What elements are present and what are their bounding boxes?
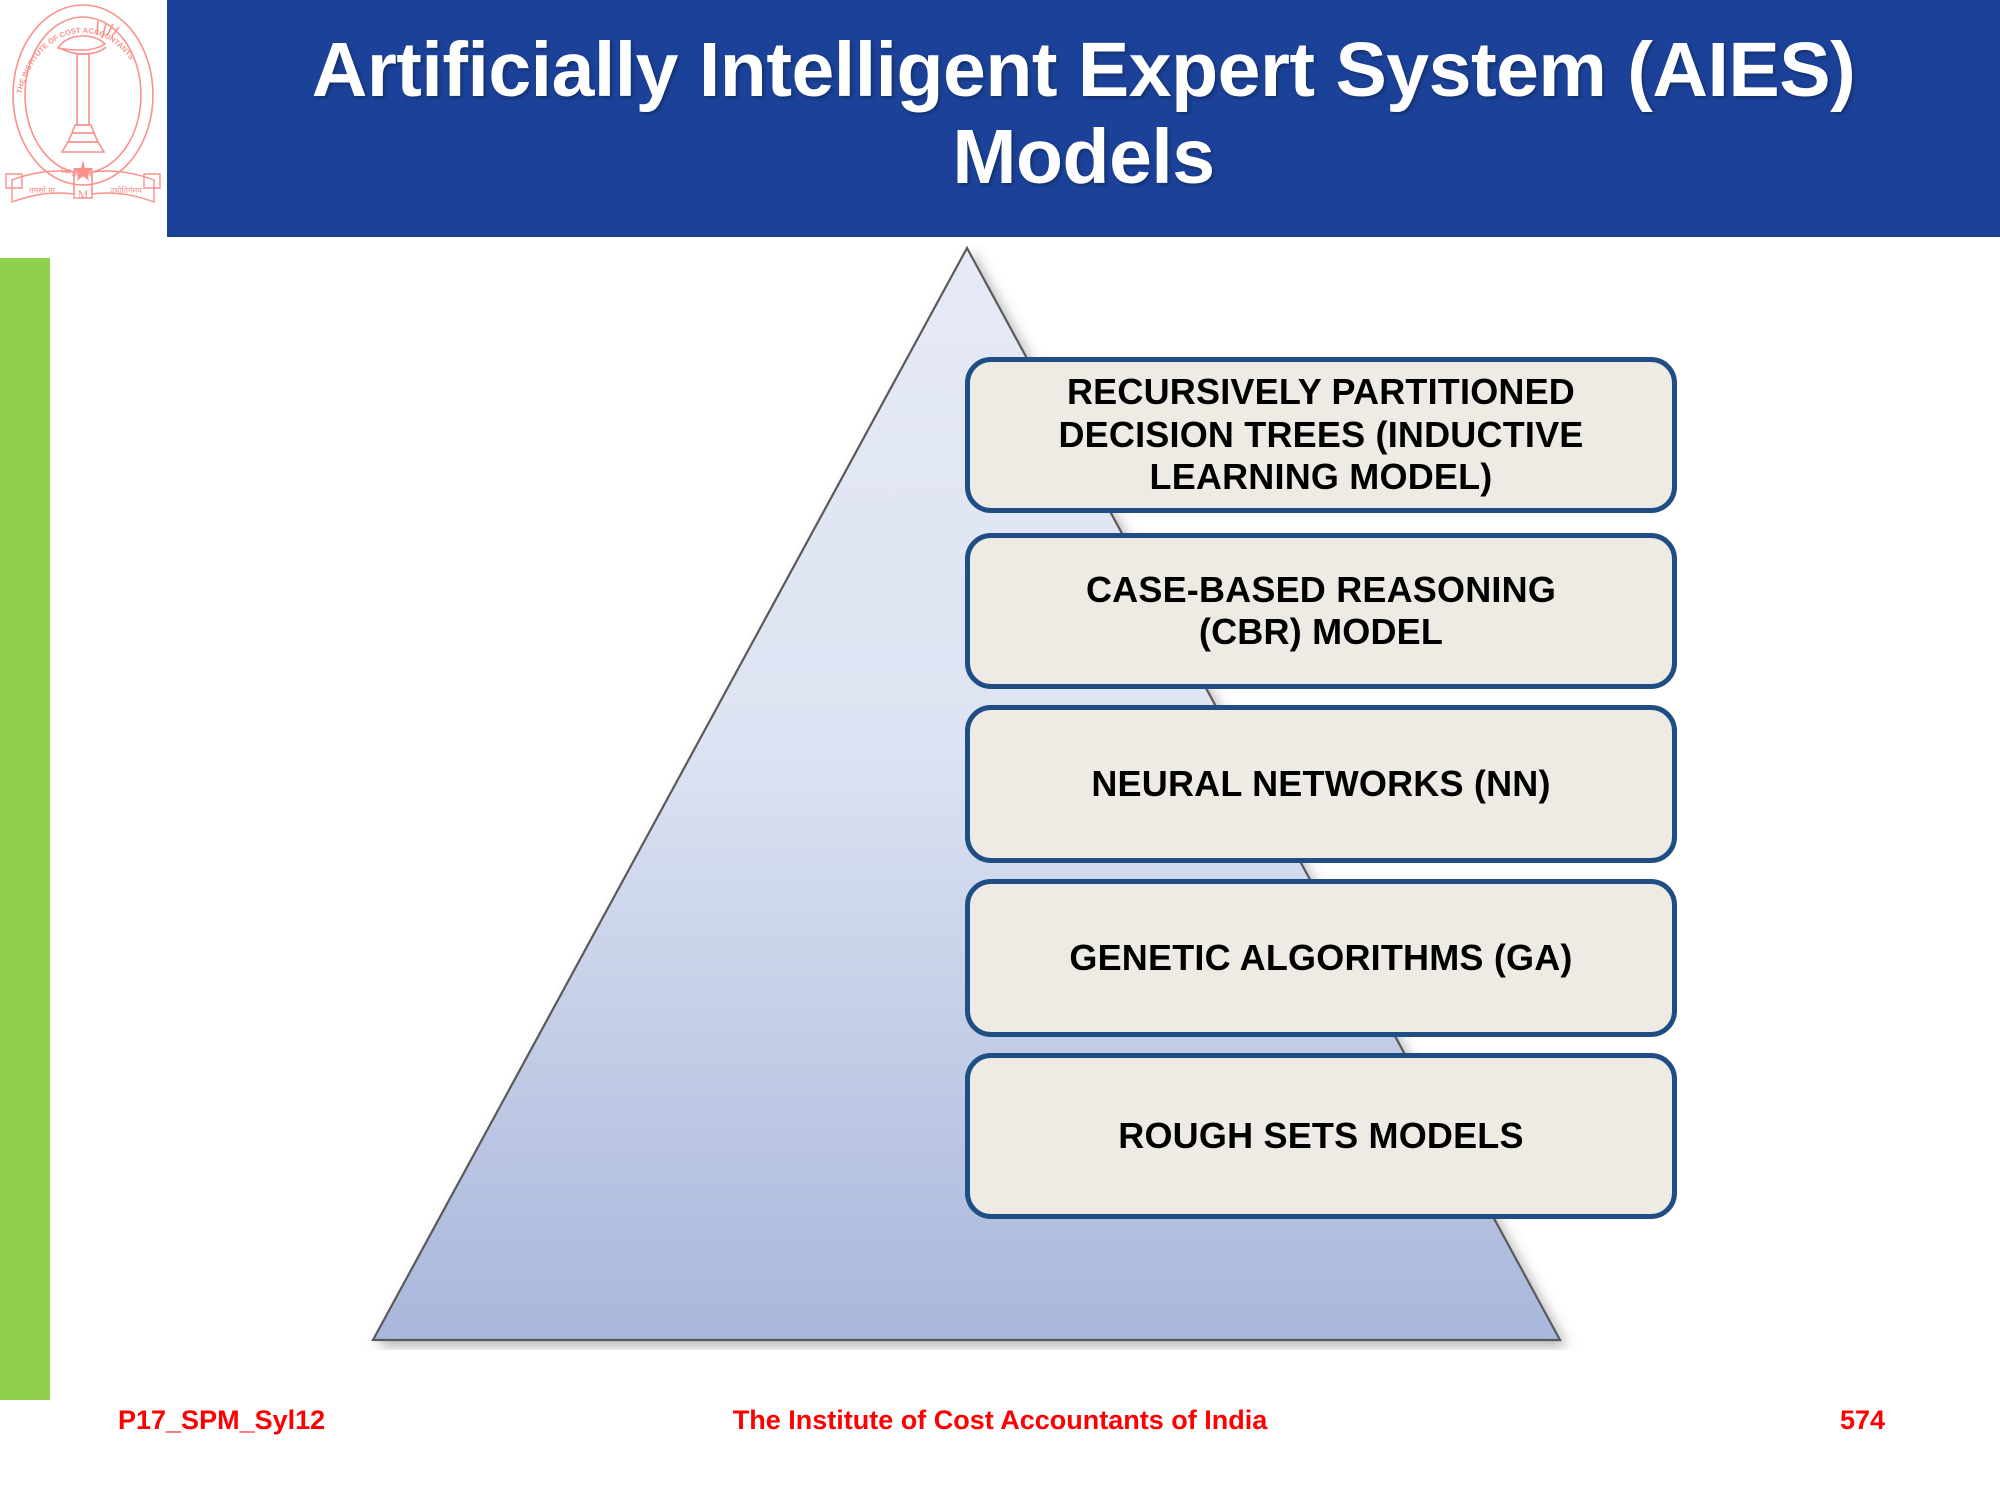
left-accent-bar <box>0 258 50 1400</box>
footer-institute-name: The Institute of Cost Accountants of Ind… <box>0 1405 2000 1436</box>
svg-text:M: M <box>78 187 89 201</box>
model-box-stack: RECURSIVELY PARTITIONED DECISION TREES (… <box>965 357 1677 1219</box>
institute-logo: M तमसो मा ज्योतिर्गमय THE INSTITUTE OF C… <box>2 2 164 206</box>
slide-canvas: M तमसो मा ज्योतिर्गमय THE INSTITUTE OF C… <box>0 0 2000 1500</box>
svg-text:तमसो मा: तमसो मा <box>29 185 56 195</box>
slide-footer: P17_SPM_Syl12 The Institute of Cost Acco… <box>0 1405 2000 1465</box>
model-box-recursively-partitioned-decision-trees[interactable]: RECURSIVELY PARTITIONED DECISION TREES (… <box>965 357 1677 513</box>
model-box-rough-sets-models[interactable]: ROUGH SETS MODELS <box>965 1053 1677 1219</box>
slide-title-bar: Artificially Intelligent Expert System (… <box>167 0 2000 237</box>
model-box-neural-networks[interactable]: NEURAL NETWORKS (NN) <box>965 705 1677 863</box>
svg-text:ज्योतिर्गमय: ज्योतिर्गमय <box>110 185 142 195</box>
page-title: Artificially Intelligent Expert System (… <box>312 27 1856 199</box>
svg-text:OF INDIA: OF INDIA <box>59 165 93 179</box>
model-box-genetic-algorithms[interactable]: GENETIC ALGORITHMS (GA) <box>965 879 1677 1037</box>
footer-page-number: 574 <box>1840 1405 1960 1436</box>
model-box-case-based-reasoning[interactable]: CASE-BASED REASONING (CBR) MODEL <box>965 533 1677 689</box>
